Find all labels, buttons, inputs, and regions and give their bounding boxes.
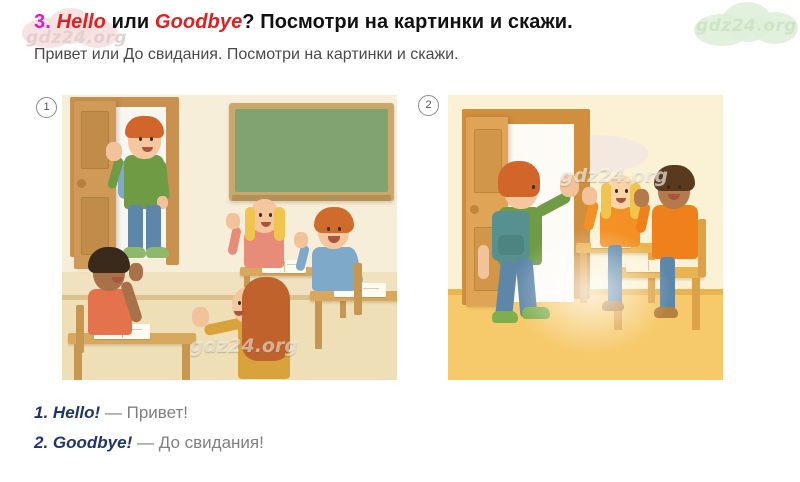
hand-waving	[192, 307, 209, 327]
hand-raised	[634, 189, 649, 207]
hand-raised	[129, 263, 143, 281]
answer-2-english: Goodbye!	[53, 433, 132, 452]
eye-left	[139, 137, 142, 141]
answer-1-number: 1.	[34, 403, 48, 422]
answer-2-dash: —	[137, 433, 154, 452]
hand-waving	[560, 175, 579, 197]
eye	[532, 185, 535, 189]
watermark-cloud-right: gdz24.org	[694, 2, 798, 54]
hair	[498, 161, 540, 197]
eye-left	[615, 189, 618, 193]
door-knob	[77, 179, 86, 188]
floor-light-glow	[509, 226, 674, 357]
hand-raised	[294, 232, 308, 248]
answer-row-2: 2. Goodbye! — До свидания!	[34, 433, 264, 453]
leg-left	[128, 205, 143, 253]
cloud-blob	[752, 12, 798, 44]
desk-leg	[182, 344, 190, 380]
desk-leg	[315, 301, 322, 349]
illustration-1-classroom-hello: gdz24.org	[62, 95, 397, 380]
title-word-goodbye: Goodbye	[155, 11, 242, 33]
eye-left	[667, 185, 670, 189]
title-word-hello: Hello	[57, 11, 106, 33]
answer-1-dash: —	[105, 403, 122, 422]
eye-left	[112, 267, 115, 271]
eye-left	[327, 227, 330, 231]
eye-right	[338, 227, 341, 231]
shoe-right	[146, 247, 169, 258]
illustration-2-classroom-goodbye: gdz24.org	[448, 95, 723, 380]
eye-right	[121, 267, 124, 271]
chair-back	[698, 219, 706, 277]
chalkboard	[229, 103, 394, 201]
chair-back	[354, 263, 362, 315]
answer-1-russian: Привет!	[127, 403, 188, 422]
chair-back	[76, 305, 84, 353]
title-question-mark: ?	[242, 11, 254, 33]
worksheet-page: gdz24.org gdz24.org 3. Hello или Goodbye…	[0, 0, 800, 482]
hair-strand-left	[245, 207, 255, 241]
eye-left	[238, 301, 241, 305]
answer-1-english: Hello!	[53, 403, 100, 422]
hair-strand-right	[274, 207, 285, 241]
book-spine	[284, 261, 285, 272]
arm-left	[478, 245, 489, 279]
page-subtitle: Привет или До свидания. Посмотри на карт…	[34, 46, 459, 64]
chalkboard-surface	[235, 109, 388, 192]
chalkboard-tray	[232, 195, 391, 201]
desk-leg	[692, 278, 700, 330]
title-conjunction: или	[112, 11, 150, 33]
answers-list: 1. Hello! — Привет! 2. Goodbye! — До сви…	[34, 403, 264, 463]
book-line	[363, 288, 379, 289]
hair	[654, 165, 695, 191]
leg-right	[146, 205, 161, 253]
eye-right	[625, 189, 628, 193]
figure-number-1: 1	[36, 97, 57, 118]
hair	[242, 277, 290, 361]
door-knob	[470, 205, 479, 214]
exercise-number: 3.	[34, 11, 51, 33]
eye-right	[150, 137, 153, 141]
hand-raised	[226, 213, 240, 229]
door-panel-upper	[81, 111, 109, 169]
title-instruction: Посмотри на картинки и скажи.	[260, 11, 572, 33]
cloud-blob	[694, 14, 750, 46]
hand-raised	[582, 187, 597, 205]
hair	[125, 116, 164, 138]
answer-2-russian: До свидания!	[159, 433, 264, 452]
hand-waving	[106, 142, 122, 161]
cloud-blob	[722, 2, 772, 42]
eye-right	[678, 185, 681, 189]
eye-right	[269, 213, 272, 217]
figure-number-2: 2	[418, 95, 439, 116]
hair	[314, 207, 354, 233]
eye-left	[259, 213, 262, 217]
watermark-text-right: gdz24.org	[696, 16, 797, 36]
answer-row-1: 1. Hello! — Привет!	[34, 403, 264, 423]
answer-2-number: 2.	[34, 433, 48, 452]
page-title: 3. Hello или Goodbye? Посмотри на картин…	[34, 11, 573, 34]
hair-strand-left	[601, 183, 611, 219]
